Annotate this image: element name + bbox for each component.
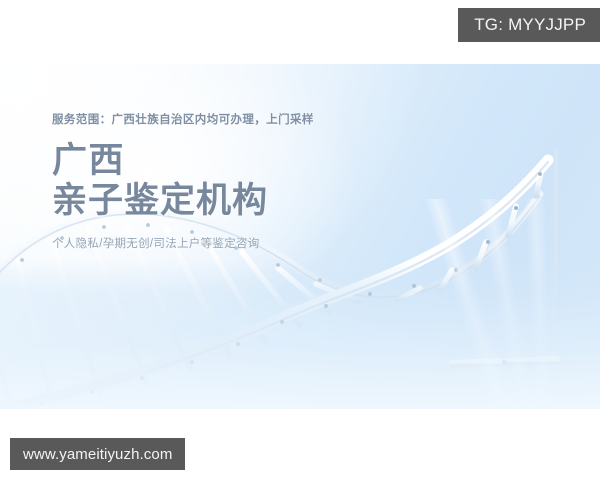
hero-banner-image: 服务范围：广西壮族自治区内均可办理，上门采样 广西 亲子鉴定机构 个人隐私/孕期… <box>0 64 600 409</box>
tg-watermark-badge: TG: MYYJJPP <box>458 8 600 42</box>
site-url-watermark-badge: www.yameitiyuzh.com <box>10 438 185 470</box>
hero-headline: 广西 亲子鉴定机构 <box>52 141 382 221</box>
bottom-white-strip: www.yameitiyuzh.com <box>0 409 600 480</box>
page-canvas: TG: MYYJJPP <box>0 0 600 480</box>
hero-headline-line-2: 亲子鉴定机构 <box>52 181 382 221</box>
hero-reflective-floor <box>0 259 600 409</box>
hero-headline-line-1: 广西 <box>52 141 382 181</box>
hero-tagline: 个人隐私/孕期无创/司法上户等鉴定咨询 <box>52 235 382 251</box>
hero-copy-block: 服务范围：广西壮族自治区内均可办理，上门采样 广西 亲子鉴定机构 个人隐私/孕期… <box>52 114 382 251</box>
top-white-strip: TG: MYYJJPP <box>0 0 600 64</box>
hero-service-scope-text: 服务范围：广西壮族自治区内均可办理，上门采样 <box>52 114 382 128</box>
